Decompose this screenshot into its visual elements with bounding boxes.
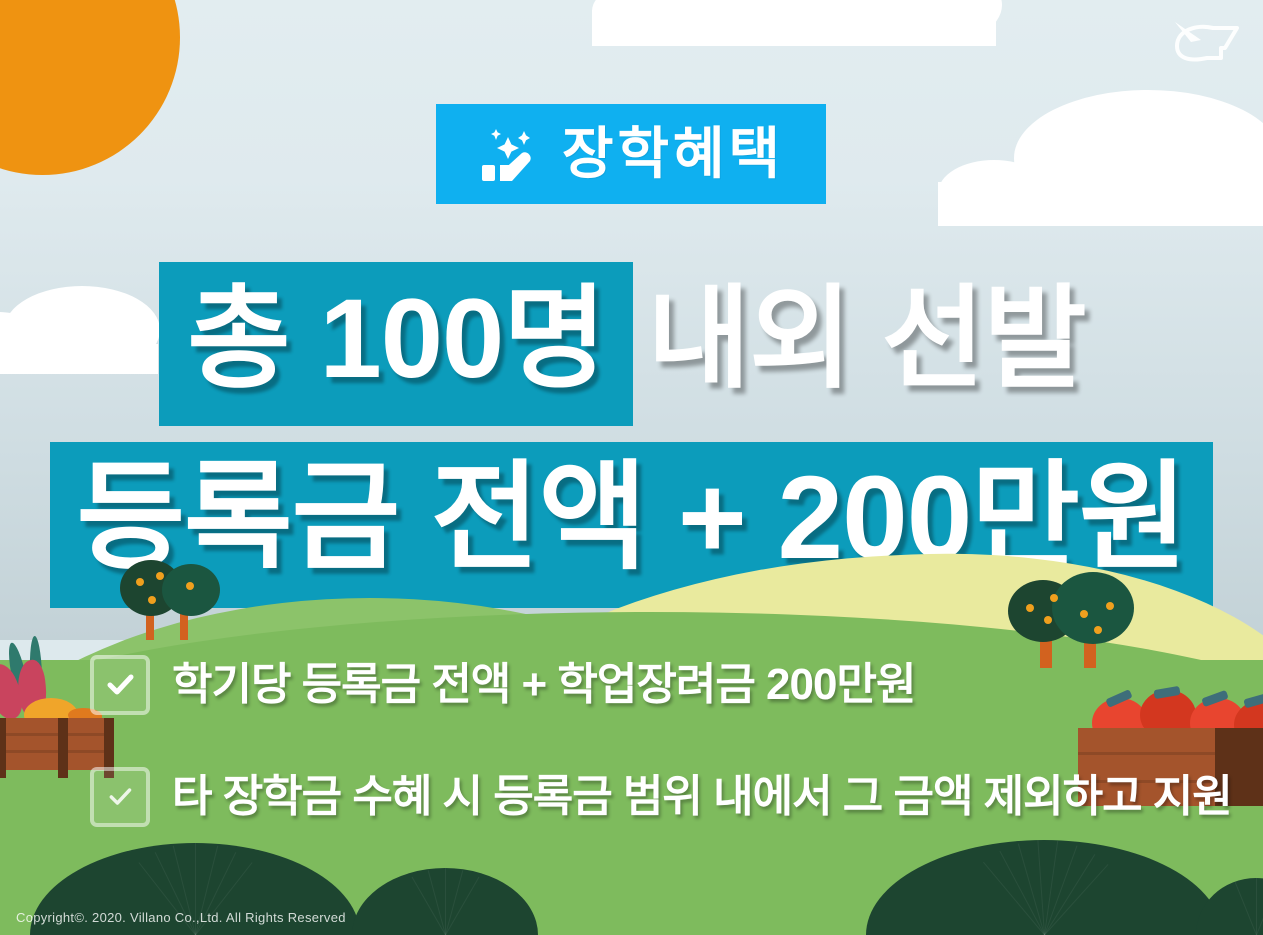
headline-plain-text: 내외 선발 bbox=[633, 262, 1093, 426]
badge-label: 장학혜택 bbox=[562, 126, 784, 182]
benefit-text: 타 장학금 수혜 시 등록금 범위 내에서 그 금액 제외하고 지원 bbox=[172, 773, 1232, 821]
tree-fruit bbox=[1080, 610, 1088, 618]
copyright-footer: Copyright©. 2020. Villano Co.,Ltd. All R… bbox=[16, 910, 346, 925]
checkbox-checked-icon bbox=[90, 767, 150, 827]
benefit-text: 학기당 등록금 전액 + 학업장려금 200만원 bbox=[172, 661, 915, 709]
cloud-top-center bbox=[592, 0, 996, 46]
tree-fruit bbox=[1050, 594, 1058, 602]
list-item: 타 장학금 수혜 시 등록금 범위 내에서 그 금액 제외하고 지원 bbox=[0, 767, 1263, 827]
tree-fruit bbox=[1026, 604, 1034, 612]
tree-right bbox=[1008, 572, 1138, 668]
tree-fruit bbox=[1044, 616, 1052, 624]
brand-logo bbox=[1167, 14, 1245, 76]
tree-fruit bbox=[156, 572, 164, 580]
tree-fruit bbox=[136, 578, 144, 586]
tree-crown bbox=[162, 564, 220, 616]
list-item: 학기당 등록금 전액 + 학업장려금 200만원 bbox=[0, 655, 1263, 715]
tree-fruit bbox=[148, 596, 156, 604]
sparkle-hand-icon bbox=[478, 123, 540, 185]
tree-fruit bbox=[1106, 602, 1114, 610]
tree-left bbox=[120, 556, 225, 640]
checkbox-checked-icon bbox=[90, 655, 150, 715]
headline-line-1: 총 100명 내외 선발 bbox=[159, 262, 1093, 426]
tree-fruit bbox=[1094, 626, 1102, 634]
headline-highlight-count: 총 100명 bbox=[159, 262, 633, 426]
tree-fruit bbox=[186, 582, 194, 590]
cloud-right-large bbox=[938, 98, 1263, 226]
bird-leaf-logo-icon bbox=[1167, 14, 1245, 76]
benefit-list: 학기당 등록금 전액 + 학업장려금 200만원 타 장학금 수혜 시 등록금 … bbox=[0, 655, 1263, 827]
tree-crown bbox=[1052, 572, 1134, 644]
scholarship-badge: 장학혜택 bbox=[436, 104, 826, 204]
poster-canvas: 장학혜택 총 100명 내외 선발 등록금 전액 + 200만원 bbox=[0, 0, 1263, 935]
